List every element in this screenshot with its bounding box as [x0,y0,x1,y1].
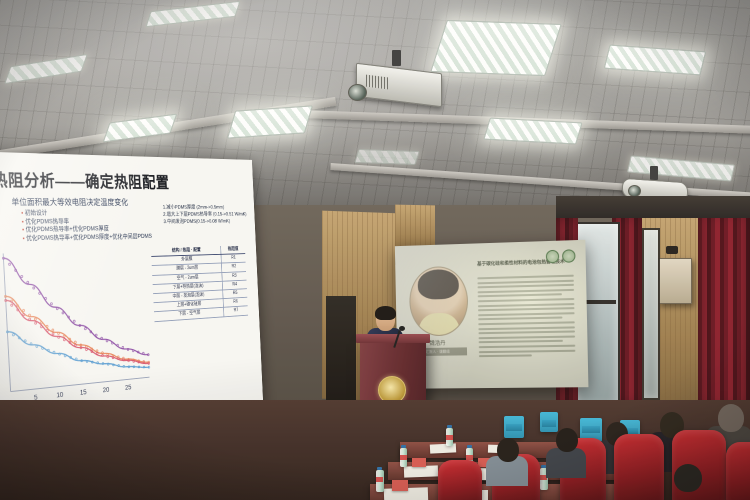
chart-marker [56,308,58,310]
attendee-torso [546,448,586,478]
chart-marker [85,348,87,350]
chart-marker [96,352,98,354]
chart-marker [42,347,44,349]
name-card [412,458,426,467]
thermal-resistance-chart: 510152025 环境温度(DegC) [0,244,155,419]
chart-marker [11,304,13,306]
microphone-head-icon [399,326,405,331]
slide-title: 热阻分析——确定热阻配置 [0,166,170,193]
chart-marker [107,353,109,355]
chart-marker [27,281,29,283]
bottle-cap [401,445,406,448]
projector-lens [348,84,367,101]
audience-member-front [486,438,528,478]
chart-marker [62,312,64,314]
water-bottle [446,428,453,446]
chart-marker [101,337,103,339]
chart-marker [12,334,14,336]
wall-header-band [556,196,750,218]
chart-marker [30,343,32,345]
chart-marker [23,313,25,315]
chart-line-优化PDMS热导率 [5,289,148,375]
chart-marker [33,287,35,289]
chart-marker [24,340,26,342]
auditorium-seat[interactable] [438,460,482,500]
chart-marker [58,336,60,338]
chart-marker [45,297,47,299]
audience-member-front [660,464,714,500]
chart-marker [29,318,31,320]
wall-fixture [666,246,678,254]
blue-stool [504,416,524,438]
chart-marker [106,340,108,342]
chart-marker [47,349,49,351]
chart-marker [58,332,60,334]
bottle-label [400,455,407,460]
chart-marker [111,342,113,344]
chart-marker [50,303,52,305]
chart-marker [34,318,36,320]
projector-mount [392,50,401,66]
window-right [642,228,660,400]
chart-marker [74,341,76,343]
chart-line-初始设计 [3,254,148,367]
chart-marker [53,351,55,353]
chart-marker [28,314,30,316]
chart-marker [74,344,76,346]
wall-speaker-cabinet [658,258,692,304]
ceiling-light-panel [354,149,420,165]
chart-series-group [2,253,150,382]
bottle-label [446,435,453,440]
y-axis [3,253,10,391]
table-cell: R7 [224,306,249,316]
bullet-item: 优化PDMS热导率+优化PDMS厚度+优化中间层PDMS [22,233,152,243]
attendee-head [556,428,578,452]
chart-marker [21,275,23,277]
chart-marker [52,333,54,335]
chart-marker [73,320,75,322]
name-card [392,480,408,491]
chart-marker [122,346,124,348]
projector-mount [650,166,658,180]
note-item: 3.中间发泡PDMS(0.15->0.08 W/mK) [163,218,247,226]
bottle-cap [467,445,472,448]
chart-marker [75,358,77,360]
chart-x-tick: 25 [125,384,132,391]
podium-top-surface [356,334,430,343]
audience-area [0,398,750,500]
chart-marker [46,329,48,331]
bottle-cap [447,425,452,428]
auditorium-seat[interactable] [726,442,750,500]
doorway [326,296,356,402]
chart-svg: 510152025 [0,244,155,419]
attendee-head [718,404,744,432]
attendee-head [497,438,519,462]
chart-marker [117,344,119,346]
chart-marker [52,329,54,331]
audience-member-front [546,428,586,472]
chart-marker [23,309,25,311]
slide-subtitle: 单位面积最大等效电阻决定温度变化 [11,196,128,208]
chart-marker [101,352,103,354]
chart-marker [39,292,41,294]
chart-marker [40,326,42,328]
chart-line-优化PDMS热导率+优化PDMS厚度 [6,293,149,376]
chart-marker [102,354,104,356]
chart-marker [9,263,11,265]
slide-numbered-notes: 1.减小PDMS厚度 (2mm->0.5mm) 2.增大上下层PDMS热导率 (… [163,204,247,226]
chart-marker [123,359,125,361]
bottle-cap [377,467,382,470]
water-bottle [376,470,384,492]
projector-vent [366,75,388,90]
ceiling-light-panel [430,20,561,76]
chart-marker [107,356,109,358]
chart-marker [132,350,134,352]
curtain-right [698,208,750,413]
thermal-resistance-table: 结构 / 热阻 · 配置热阻值外层膜R1膜层 - 2um层R2空气 - 2um层… [151,245,248,321]
chart-marker [63,339,65,341]
auditorium-seat[interactable] [614,434,664,500]
chart-marker [64,355,66,357]
paper-sheet [404,465,438,477]
attendee-head [674,464,702,492]
chart-marker [142,352,144,354]
chart-marker [35,322,37,324]
water-bottle [400,448,407,467]
chart-marker [36,345,38,347]
speaker-hair [375,306,396,320]
chart-marker [46,325,48,327]
chart-marker [95,334,97,336]
ceiling-light-panel [227,105,313,138]
chart-marker [96,350,98,352]
ceiling-projector-left [348,62,444,118]
chart-x-tick: 20 [103,387,110,394]
chart-line-优化PDMS热导率+优化PDMS厚度+优化中间层PDMS [7,322,149,381]
slide-bullet-list: 初始设计 优化PDMS热导率 优化PDMS热导率+优化PDMS厚度 优化PDMS… [21,210,152,244]
chart-x-tick: 15 [80,389,87,396]
bottle-label [376,477,383,482]
chart-marker [84,328,86,330]
conference-hall-photo: 热阻分析——确定热阻配置 单位面积最大等效电阻决定温度变化 初始设计 优化PDM… [0,0,750,500]
